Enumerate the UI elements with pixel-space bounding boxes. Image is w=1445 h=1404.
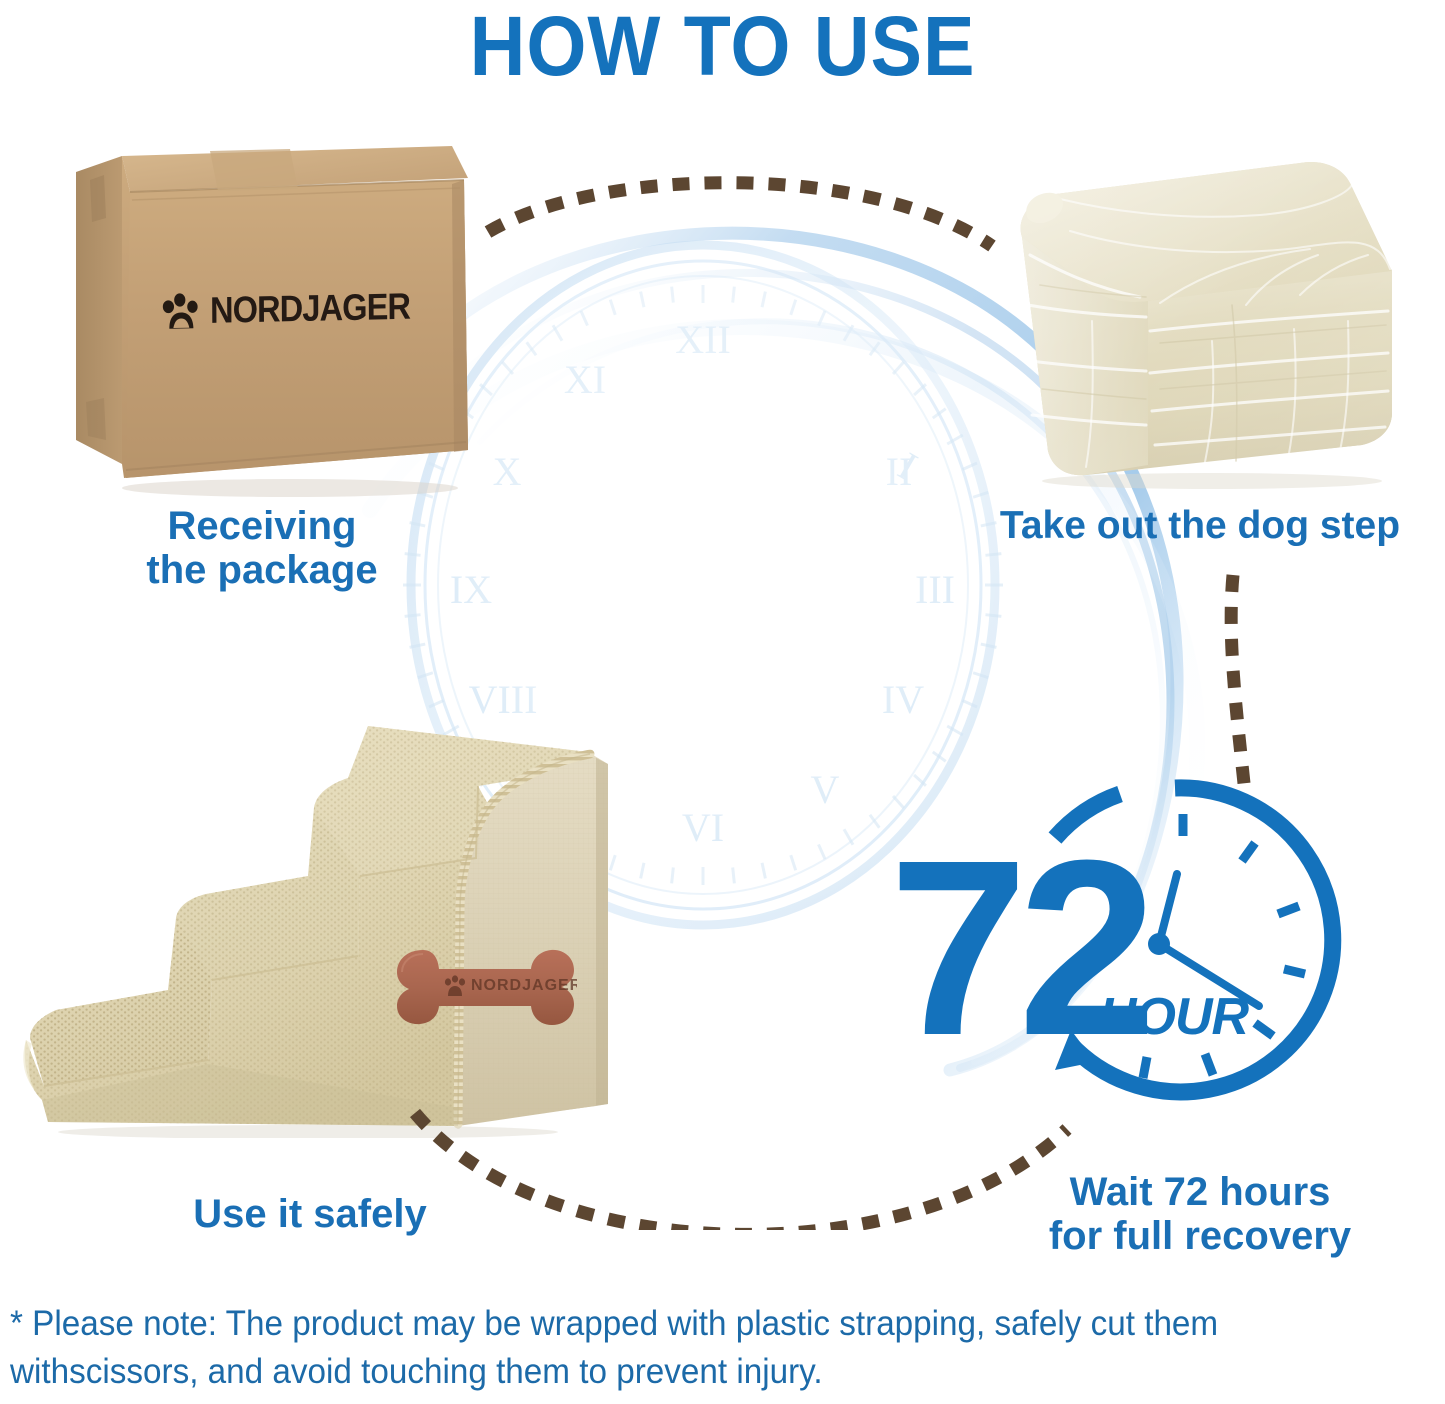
- page-title: HOW TO USE: [58, 2, 1387, 90]
- svg-text:V: V: [811, 767, 840, 812]
- svg-text:XI: XI: [564, 357, 606, 402]
- bone-patch-brand-text: NORDJAGER: [471, 977, 577, 994]
- svg-text:VI: VI: [682, 805, 724, 850]
- svg-text:XII: XII: [675, 317, 731, 362]
- step-2-caption: Take out the dog step: [960, 504, 1440, 548]
- arc-wrapped-to-clock: [1175, 565, 1310, 805]
- clock-unit-label: HOUR: [1099, 988, 1250, 1046]
- box-brand-text: NORDJAGER: [210, 286, 410, 332]
- paw-print-icon: [160, 291, 203, 332]
- svg-text:III: III: [915, 567, 955, 612]
- box-brand-logo: NORDJAGER: [160, 285, 438, 333]
- arc-box-to-wrapped: [480, 160, 1000, 290]
- step-1-caption: Receiving the package: [32, 504, 492, 592]
- how-to-use-infographic: XII I II III IV V VI VII VIII IX X XI: [0, 0, 1445, 1404]
- 72-hour-clock-icon: 72 HOUR: [895, 778, 1345, 1123]
- step-3-caption: Use it safely: [30, 1192, 590, 1236]
- bone-patch-icon: NORDJAGER: [393, 934, 577, 1028]
- svg-text:IV: IV: [882, 677, 924, 722]
- dog-step-product-image: [8, 708, 633, 1138]
- plastic-wrapped-foam-block-image: [1000, 145, 1420, 490]
- step-4-caption: Wait 72 hours for full recovery: [955, 1170, 1445, 1258]
- svg-text:X: X: [493, 449, 522, 494]
- footnote-text: * Please note: The product may be wrappe…: [10, 1300, 1364, 1396]
- svg-text:I: I: [891, 443, 925, 489]
- svg-text:II: II: [886, 449, 913, 494]
